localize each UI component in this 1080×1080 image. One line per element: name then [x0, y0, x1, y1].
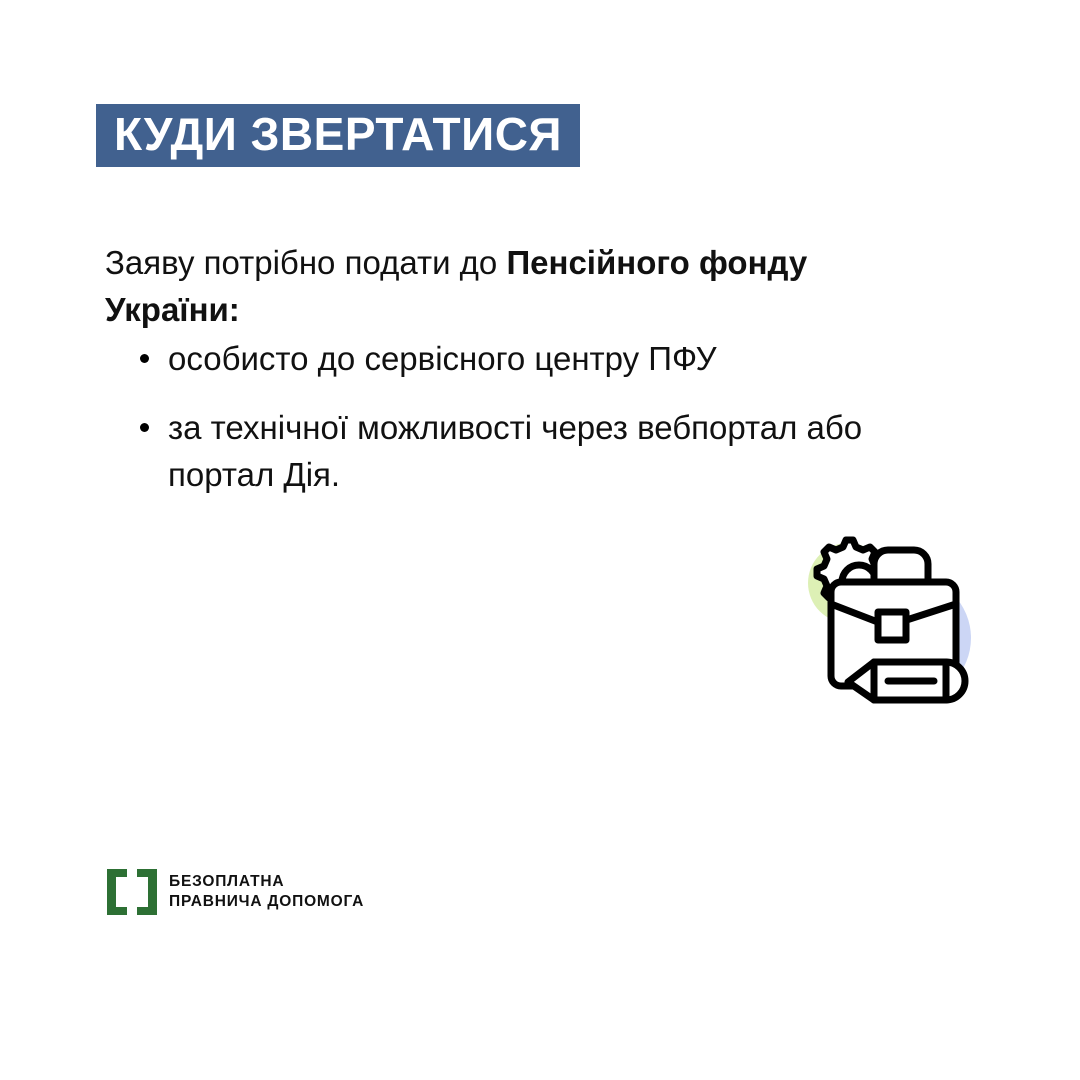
- logo-line-2: ПРАВНИЧА ДОПОМОГА: [169, 892, 364, 912]
- page-title-banner: КУДИ ЗВЕРТАТИСЯ: [96, 104, 580, 167]
- bracket-mark-svg: [107, 869, 157, 915]
- infographic-canvas: КУДИ ЗВЕРТАТИСЯ Заяву потрібно подати до…: [0, 0, 1080, 1080]
- list-item: за технічної можливості через вебпортал …: [128, 405, 928, 499]
- page-title: КУДИ ЗВЕРТАТИСЯ: [114, 110, 562, 158]
- bullet-dot-icon: [140, 423, 149, 432]
- list-item-label: особисто до сервісного центру ПФУ: [168, 340, 717, 377]
- intro-text-regular: Заяву потрібно подати до: [105, 244, 506, 281]
- illustration-svg: [786, 516, 996, 726]
- logo-wordmark: БЕЗОПЛАТНА ПРАВНИЧА ДОПОМОГА: [169, 872, 364, 912]
- bracket-mark-icon: [107, 869, 157, 915]
- right-bracket-icon: [137, 869, 157, 915]
- logo-line-1: БЕЗОПЛАТНА: [169, 872, 364, 892]
- briefcase-gear-pencil-illustration: [786, 516, 996, 726]
- briefcase-handle: [874, 550, 928, 582]
- bullet-dot-icon: [140, 354, 149, 363]
- organization-logo: БЕЗОПЛАТНА ПРАВНИЧА ДОПОМОГА: [107, 869, 364, 915]
- list-item: особисто до сервісного центру ПФУ: [128, 336, 928, 383]
- list-item-label: за технічної можливості через вебпортал …: [168, 409, 862, 493]
- illustration-line-art: [817, 540, 965, 700]
- left-bracket-icon: [107, 869, 127, 915]
- bullet-list: особисто до сервісного центру ПФУ за тех…: [128, 336, 928, 499]
- briefcase-clasp: [878, 612, 906, 640]
- intro-paragraph: Заяву потрібно подати до Пенсійного фонд…: [105, 240, 915, 334]
